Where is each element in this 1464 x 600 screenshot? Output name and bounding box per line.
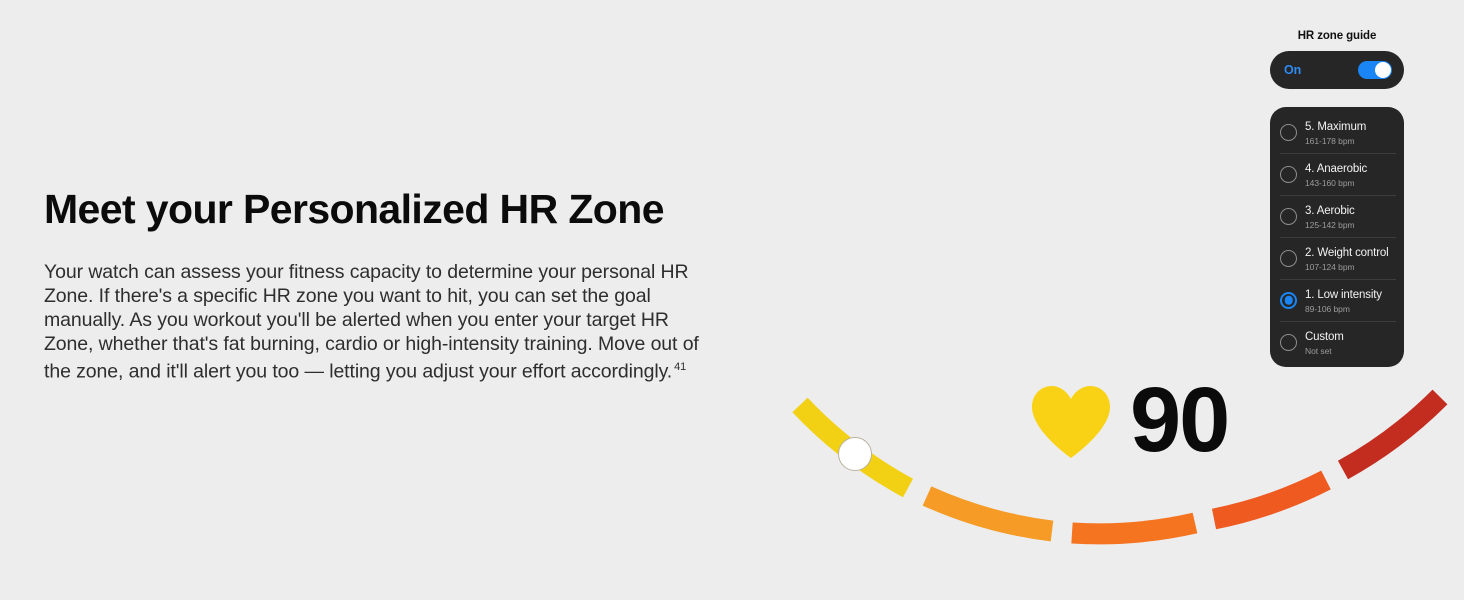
toggle-state-label: On bbox=[1284, 63, 1301, 77]
zone-name: 4. Anaerobic bbox=[1305, 163, 1367, 175]
zone-list-item-5[interactable]: 5. Maximum 161-178 bpm bbox=[1270, 111, 1404, 153]
zone-name: 1. Low intensity bbox=[1305, 289, 1382, 301]
toggle-knob bbox=[1375, 62, 1391, 78]
radio-icon[interactable] bbox=[1280, 250, 1297, 267]
gauge-segment-aerobic bbox=[1072, 523, 1195, 534]
hr-zone-guide-title: HR zone guide bbox=[1270, 30, 1404, 42]
zone-bpm: Not set bbox=[1305, 346, 1344, 357]
hr-zone-list: 5. Maximum 161-178 bpm 4. Anaerobic 143-… bbox=[1270, 107, 1404, 367]
radio-icon[interactable] bbox=[1280, 166, 1297, 183]
zone-list-item-4[interactable]: 4. Anaerobic 143-160 bpm bbox=[1270, 153, 1404, 195]
hr-zone-guide-toggle-switch[interactable] bbox=[1358, 61, 1392, 79]
heart-rate-value: 90 bbox=[1130, 374, 1228, 466]
footnote-marker: 41 bbox=[674, 361, 686, 373]
zone-bpm: 107-124 bpm bbox=[1305, 262, 1389, 273]
zone-list-item-1[interactable]: 1. Low intensity 89-106 bpm bbox=[1270, 279, 1404, 321]
gauge-segment-maximum bbox=[1343, 397, 1440, 470]
page-title: Meet your Personalized HR Zone bbox=[44, 186, 704, 233]
hr-zone-marketing-page: { "page": { "background_color": "#ededed… bbox=[0, 0, 1464, 600]
gauge-segment-weight-control bbox=[927, 496, 1052, 531]
radio-icon[interactable] bbox=[1280, 208, 1297, 225]
radio-icon-selected[interactable] bbox=[1280, 292, 1297, 309]
radio-icon[interactable] bbox=[1280, 334, 1297, 351]
zone-name: 5. Maximum bbox=[1305, 121, 1366, 133]
zone-list-item-2[interactable]: 2. Weight control 107-124 bpm bbox=[1270, 237, 1404, 279]
hr-readout: 90 bbox=[1030, 378, 1228, 466]
zone-list-item-custom[interactable]: Custom Not set bbox=[1270, 321, 1404, 363]
gauge-segment-anaerobic bbox=[1214, 480, 1326, 519]
hr-zone-guide-panel: HR zone guide On 5. Maximum 161-178 bpm … bbox=[1270, 30, 1404, 367]
zone-bpm: 143-160 bpm bbox=[1305, 178, 1367, 189]
zone-bpm: 89-106 bpm bbox=[1305, 304, 1382, 315]
copy-block: Meet your Personalized HR Zone Your watc… bbox=[44, 186, 704, 385]
body-paragraph: Your watch can assess your fitness capac… bbox=[44, 261, 704, 384]
hr-zone-guide-toggle-row[interactable]: On bbox=[1270, 51, 1404, 89]
zone-name: 2. Weight control bbox=[1305, 247, 1389, 259]
zone-list-item-3[interactable]: 3. Aerobic 125-142 bpm bbox=[1270, 195, 1404, 237]
radio-icon[interactable] bbox=[1280, 124, 1297, 141]
heart-icon bbox=[1030, 385, 1112, 459]
body-text: Your watch can assess your fitness capac… bbox=[44, 261, 699, 383]
zone-name: Custom bbox=[1305, 331, 1344, 343]
gauge-position-marker[interactable] bbox=[838, 437, 872, 471]
zone-bpm: 125-142 bpm bbox=[1305, 220, 1355, 231]
zone-bpm: 161-178 bpm bbox=[1305, 136, 1366, 147]
zone-name: 3. Aerobic bbox=[1305, 205, 1355, 217]
